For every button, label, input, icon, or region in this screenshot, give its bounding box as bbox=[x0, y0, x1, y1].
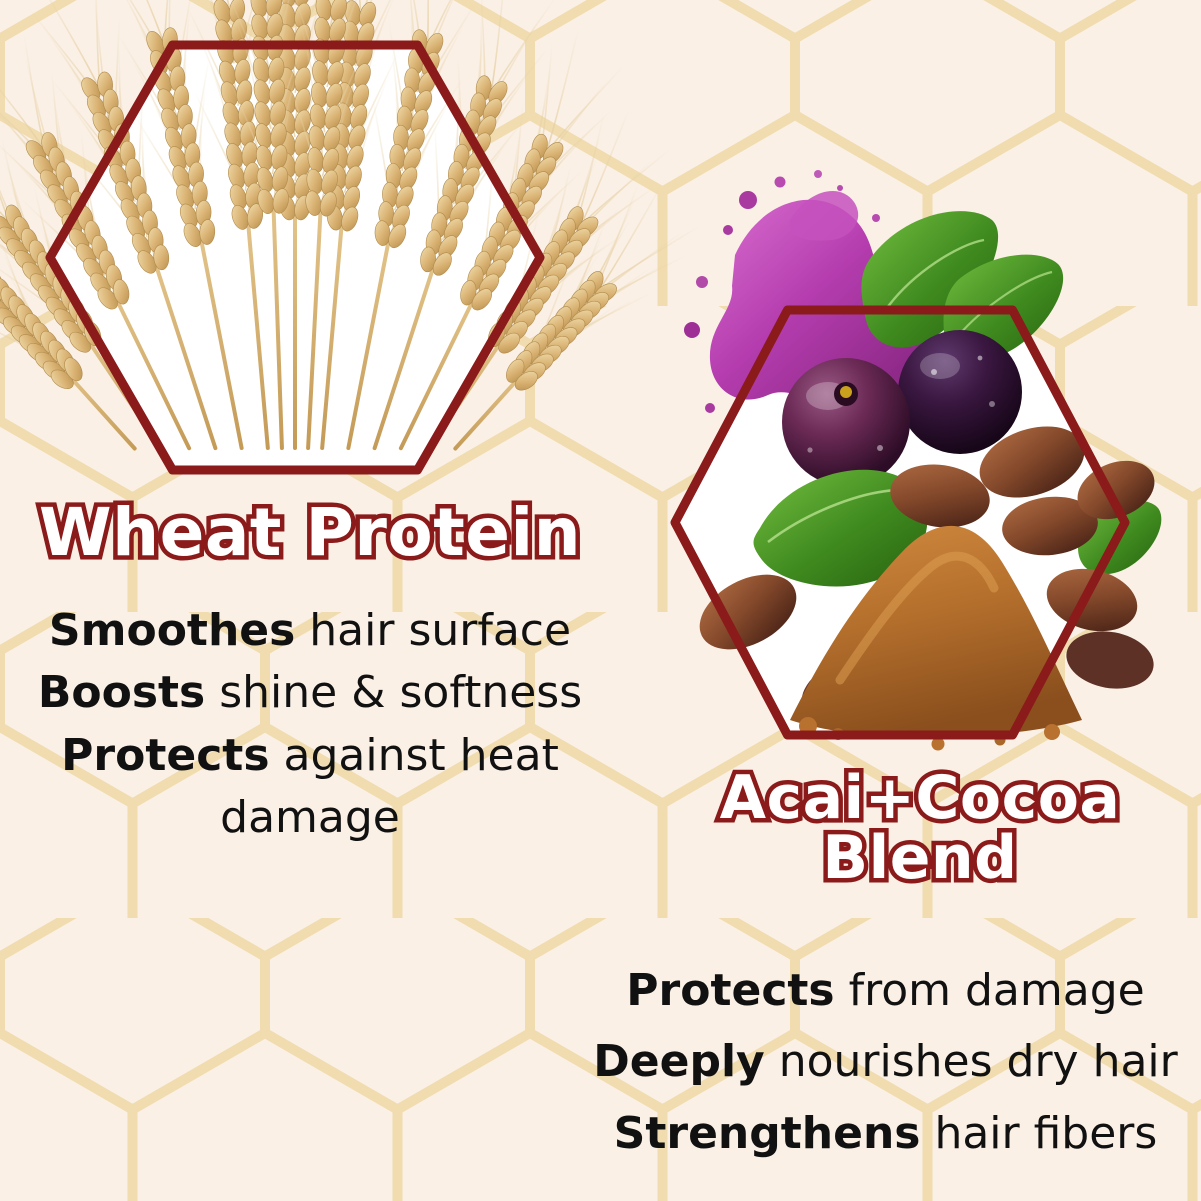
benefit-rest: damage bbox=[220, 792, 400, 843]
benefit-rest: shine & softness bbox=[205, 667, 582, 718]
benefit-line: Boosts shine & softness bbox=[0, 662, 620, 724]
acai-cocoa-image-card bbox=[675, 310, 1125, 735]
ingredient-benefits-infographic: Wheat Protein Smoothes hair surface Boos… bbox=[0, 0, 1201, 1201]
benefit-rest: from damage bbox=[835, 965, 1145, 1016]
benefit-line: Strengthens hair fibers bbox=[570, 1098, 1201, 1169]
acai-cocoa-title-line2: Blend bbox=[640, 828, 1200, 888]
benefit-rest: hair surface bbox=[295, 605, 571, 656]
wheat-stalks-photo bbox=[50, 0, 540, 470]
benefit-line: damage bbox=[0, 787, 620, 849]
wheat-protein-image-card bbox=[50, 45, 540, 470]
benefit-rest: nourishes dry hair bbox=[765, 1036, 1178, 1087]
benefit-rest: hair fibers bbox=[920, 1108, 1157, 1159]
benefit-emphasis: Protects bbox=[626, 965, 834, 1016]
benefit-line: Protects from damage bbox=[570, 955, 1201, 1026]
benefit-line: Protects against heat bbox=[0, 725, 620, 787]
wheat-protein-title: Wheat Protein bbox=[10, 500, 610, 566]
benefit-line: Smoothes hair surface bbox=[0, 600, 620, 662]
acai-cocoa-title: Acai+Cocoa Blend bbox=[640, 768, 1200, 888]
wheat-protein-benefit-list: Smoothes hair surface Boosts shine & sof… bbox=[0, 600, 620, 850]
benefit-emphasis: Protects bbox=[61, 730, 269, 781]
benefit-emphasis: Deeply bbox=[593, 1036, 764, 1087]
acai-cocoa-photo bbox=[640, 160, 1160, 760]
benefit-emphasis: Smoothes bbox=[49, 605, 295, 656]
acai-cocoa-benefit-list: Protects from damage Deeply nourishes dr… bbox=[570, 955, 1201, 1169]
acai-cocoa-title-line1: Acai+Cocoa bbox=[640, 768, 1200, 828]
benefit-emphasis: Strengthens bbox=[614, 1108, 921, 1159]
benefit-rest: against heat bbox=[270, 730, 559, 781]
benefit-line: Deeply nourishes dry hair bbox=[570, 1026, 1201, 1097]
benefit-emphasis: Boosts bbox=[38, 667, 205, 718]
